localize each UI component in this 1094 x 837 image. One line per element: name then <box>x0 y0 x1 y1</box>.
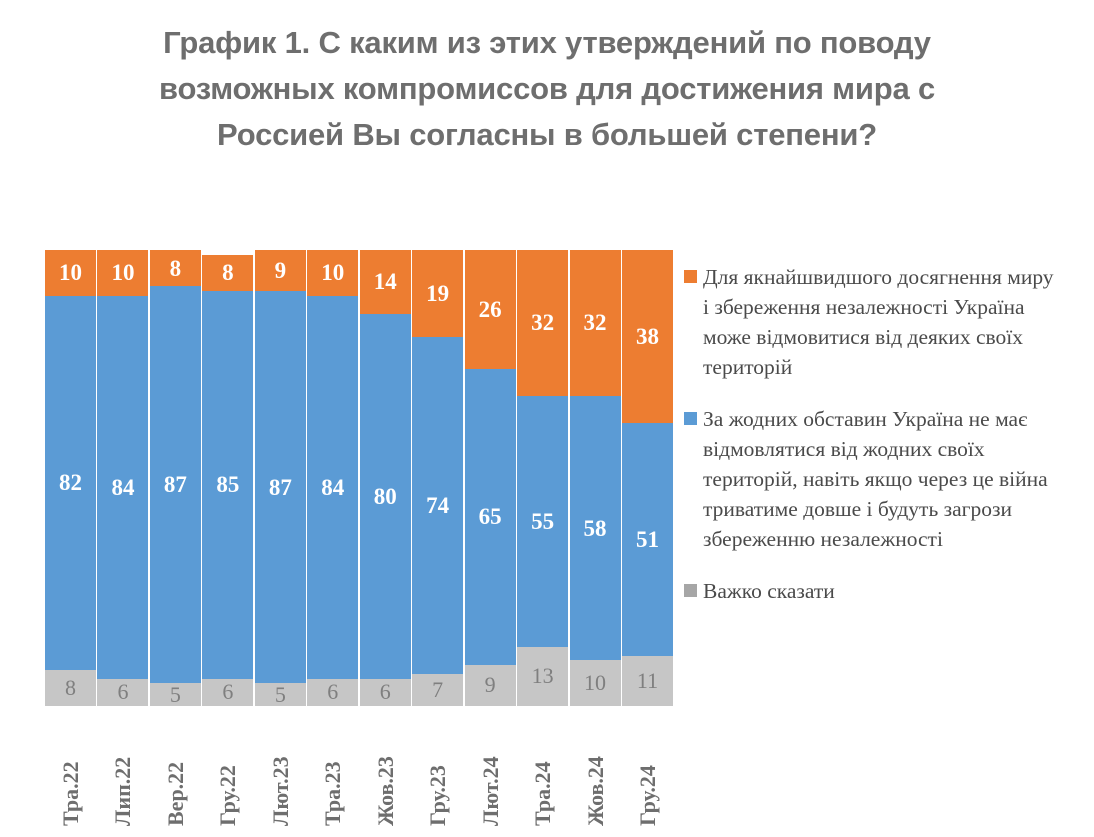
bar-segment-blue[interactable]: 58 <box>570 396 621 660</box>
x-axis-tick-label: Гру.22 <box>202 710 253 830</box>
x-axis-tick: Тра.23 <box>307 710 358 830</box>
bar-segment-orange[interactable]: 14 <box>360 250 411 314</box>
bar-segment-gray[interactable]: 13 <box>517 647 568 706</box>
x-axis-tick-label: Лип.22 <box>97 710 148 830</box>
x-axis-tick: Тра.22 <box>45 710 96 830</box>
legend-swatch-blue-icon <box>684 412 697 425</box>
bar-segment-orange[interactable]: 10 <box>45 250 96 296</box>
x-axis-tick: Гру.24 <box>622 710 673 830</box>
bar-value-label: 11 <box>637 670 658 692</box>
bar-value-label: 8 <box>170 257 182 280</box>
bar-segment-blue[interactable]: 74 <box>412 337 463 674</box>
bar-column[interactable]: 10846 <box>97 250 148 706</box>
bar-value-label: 13 <box>532 665 554 687</box>
bar-value-label: 5 <box>275 684 286 706</box>
bar-column[interactable]: 385111 <box>622 250 673 706</box>
bar-segment-orange[interactable]: 10 <box>97 250 148 296</box>
bar-value-label: 32 <box>584 311 607 334</box>
bar-value-label: 19 <box>426 282 449 305</box>
bar-value-label: 84 <box>111 476 134 499</box>
x-axis-tick-label: Жов.24 <box>570 710 621 830</box>
bar-value-label: 87 <box>269 476 292 499</box>
bar-value-label: 26 <box>479 298 502 321</box>
bar-segment-gray[interactable]: 6 <box>307 679 358 706</box>
bar-value-label: 38 <box>636 325 659 348</box>
bar-column[interactable]: 26659 <box>465 250 516 706</box>
bar-value-label: 9 <box>275 259 287 282</box>
x-axis-tick: Вер.22 <box>150 710 201 830</box>
x-axis-tick-label: Гру.24 <box>622 710 673 830</box>
bar-column[interactable]: 10846 <box>307 250 358 706</box>
bar-value-label: 10 <box>111 261 134 284</box>
bar-segment-gray[interactable]: 5 <box>150 683 201 706</box>
bar-value-label: 8 <box>222 261 234 284</box>
bar-value-label: 32 <box>531 311 554 334</box>
x-axis-tick-label: Жов.23 <box>360 710 411 830</box>
bar-value-label: 14 <box>374 270 397 293</box>
x-axis-tick: Лип.22 <box>97 710 148 830</box>
chart-legend: Для якнайшвидшого досягнення миру і збер… <box>684 262 1084 628</box>
legend-label-blue: За жодних обставин Україна не має відмов… <box>703 404 1063 554</box>
bar-value-label: 82 <box>59 471 82 494</box>
bar-value-label: 74 <box>426 494 449 517</box>
bar-value-label: 51 <box>636 528 659 551</box>
x-axis-tick: Жов.24 <box>570 710 621 830</box>
bar-column[interactable]: 8875 <box>150 250 201 706</box>
bar-column[interactable]: 325810 <box>570 250 621 706</box>
page-title: График 1. С каким из этих утверждений по… <box>60 20 1034 158</box>
bar-value-label: 6 <box>327 681 338 703</box>
x-axis-tick-label: Гру.23 <box>412 710 463 830</box>
bar-value-label: 85 <box>216 473 239 496</box>
x-axis-tick-label: Тра.24 <box>517 710 568 830</box>
x-axis-tick-label: Тра.23 <box>307 710 358 830</box>
bar-segment-orange[interactable]: 32 <box>570 250 621 396</box>
legend-item-hard-to-say[interactable]: Важко сказати <box>684 576 1084 606</box>
page-title-line-3: Россией Вы согласны в большей степени? <box>60 112 1034 158</box>
legend-label-gray: Важко сказати <box>703 576 835 606</box>
x-axis-tick: Гру.23 <box>412 710 463 830</box>
bar-value-label: 65 <box>479 505 502 528</box>
x-axis-tick-label: Вер.22 <box>150 710 201 830</box>
bar-segment-gray[interactable]: 6 <box>97 679 148 706</box>
stacked-bar-chart-plot-area: 1082810846887588569875108461480619747266… <box>45 250 673 706</box>
bar-segment-blue[interactable]: 84 <box>307 296 358 679</box>
bar-segment-blue[interactable]: 84 <box>97 296 148 679</box>
bar-segment-orange[interactable]: 32 <box>517 250 568 396</box>
bar-value-label: 10 <box>584 672 606 694</box>
bar-value-label: 84 <box>321 476 344 499</box>
bar-value-label: 9 <box>485 674 496 696</box>
bar-segment-gray[interactable]: 8 <box>45 670 96 706</box>
bar-column[interactable]: 8856 <box>202 250 253 706</box>
bar-segment-gray[interactable]: 6 <box>202 679 253 706</box>
bar-segment-gray[interactable]: 7 <box>412 674 463 706</box>
x-axis-tick: Лют.24 <box>465 710 516 830</box>
bar-segment-orange[interactable]: 10 <box>307 250 358 296</box>
legend-swatch-orange-icon <box>684 270 697 283</box>
x-axis-tick-label: Лют.23 <box>255 710 306 830</box>
bar-segment-gray[interactable]: 5 <box>255 683 306 706</box>
bar-segment-blue[interactable]: 87 <box>255 291 306 684</box>
bar-column[interactable]: 19747 <box>412 250 463 706</box>
x-axis-tick: Гру.22 <box>202 710 253 830</box>
bar-segment-blue[interactable]: 51 <box>622 423 673 656</box>
bar-segment-blue[interactable]: 65 <box>465 369 516 665</box>
legend-label-orange: Для якнайшвидшого досягнення миру і збер… <box>703 262 1063 382</box>
bar-segment-orange[interactable]: 19 <box>412 250 463 337</box>
legend-item-territory-compromise[interactable]: Для якнайшвидшого досягнення миру і збер… <box>684 262 1084 382</box>
bar-value-label: 80 <box>374 485 397 508</box>
bar-value-label: 8 <box>65 677 76 699</box>
bar-segment-blue[interactable]: 85 <box>202 291 253 679</box>
bar-segment-orange[interactable]: 26 <box>465 250 516 369</box>
bar-column[interactable]: 325513 <box>517 250 568 706</box>
x-axis-tick-label: Тра.22 <box>45 710 96 830</box>
bar-column[interactable]: 14806 <box>360 250 411 706</box>
page-title-line-2: возможных компромиссов для достижения ми… <box>60 66 1034 112</box>
bar-value-label: 7 <box>432 679 443 701</box>
x-axis-tick: Лют.23 <box>255 710 306 830</box>
bar-value-label: 87 <box>164 473 187 496</box>
bar-segment-blue[interactable]: 87 <box>150 286 201 683</box>
bar-segment-orange[interactable]: 9 <box>255 250 306 291</box>
legend-item-no-territory-concession[interactable]: За жодних обставин Україна не має відмов… <box>684 404 1084 554</box>
bar-segment-orange[interactable]: 38 <box>622 250 673 423</box>
legend-swatch-gray-icon <box>684 584 697 597</box>
bar-value-label: 10 <box>321 261 344 284</box>
bar-column[interactable]: 9875 <box>255 250 306 706</box>
bar-segment-blue[interactable]: 55 <box>517 396 568 647</box>
bar-segment-gray[interactable]: 9 <box>465 665 516 706</box>
x-axis-tick: Тра.24 <box>517 710 568 830</box>
bar-value-label: 5 <box>170 684 181 706</box>
bar-value-label: 58 <box>584 517 607 540</box>
bar-value-label: 10 <box>59 261 82 284</box>
page-title-line-1: График 1. С каким из этих утверждений по… <box>60 20 1034 66</box>
bar-segment-blue[interactable]: 82 <box>45 296 96 670</box>
bar-segment-orange[interactable]: 8 <box>202 255 253 291</box>
bar-segment-blue[interactable]: 80 <box>360 314 411 679</box>
bar-segment-gray[interactable]: 10 <box>570 660 621 706</box>
bar-value-label: 6 <box>222 681 233 703</box>
x-axis-labels: Тра.22Лип.22Вер.22Гру.22Лют.23Тра.23Жов.… <box>45 710 673 830</box>
bar-segment-gray[interactable]: 6 <box>360 679 411 706</box>
bar-value-label: 6 <box>380 681 391 703</box>
bar-segment-orange[interactable]: 8 <box>150 250 201 286</box>
x-axis-tick-label: Лют.24 <box>465 710 516 830</box>
bar-column[interactable]: 10828 <box>45 250 96 706</box>
x-axis-tick: Жов.23 <box>360 710 411 830</box>
bar-value-label: 55 <box>531 510 554 533</box>
bar-value-label: 6 <box>117 681 128 703</box>
bar-segment-gray[interactable]: 11 <box>622 656 673 706</box>
